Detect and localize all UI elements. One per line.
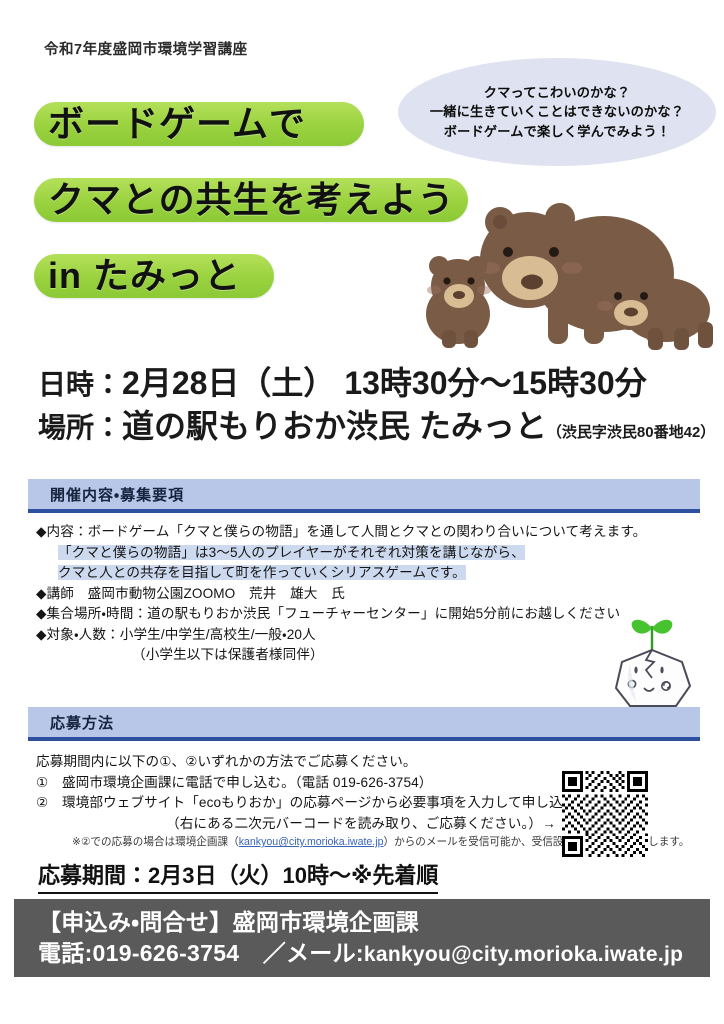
content-line: ◆内容：ボードゲーム「クマと僕らの物語」を通して人間とクマとの関わり合いについて… [36, 522, 596, 543]
bubble-line-1: クマってこわいのかな？ [430, 83, 684, 102]
apply-period: 応募期間：2月3日（火）10時〜※先着順 [38, 858, 438, 894]
apply-line: 応募期間内に以下の①、②いずれかの方法でご応募ください。 [36, 752, 596, 773]
place-address: （渋民字渋民80番地42） [547, 424, 715, 441]
content-line: ◆講師 盛岡市動物公園ZOOMO 荒井 雄大 氏 [36, 584, 596, 605]
date-value: 2月28日（土） [122, 365, 335, 401]
sprout-icon [632, 620, 673, 652]
footer-line-2: 電話:019-626-3754 ／メール:kankyou@city.moriok… [38, 938, 710, 969]
title-text-3: in たみっと [34, 255, 241, 296]
time-value: 13時30分〜15時30分 [344, 365, 646, 401]
bubble-line-2: 一緒に生きていくことはできないのかな？ [430, 102, 684, 121]
bubble-line-3: ボードゲームで楽しく学んでみよう！ [430, 122, 684, 141]
section-header-apply: 応募方法 [28, 707, 700, 741]
footer-phone: 電話:019-626-3754 ／メール: [38, 940, 364, 966]
content-line: （小学生以下は保護者様同伴） [36, 645, 596, 666]
section-header-apply-label: 応募方法 [28, 712, 114, 733]
apply-line: ② 環境部ウェブサイト「ecoもりおか」の応募ページから必要事項を入力して申し込… [36, 793, 596, 814]
place-value: 道の駅もりおか渋民 たみっと [122, 408, 547, 444]
event-details: 日時：2月28日（土） 13時30分〜15時30分 場所：道の駅もりおか渋民 た… [38, 362, 698, 448]
rock-body [616, 650, 690, 706]
apply-lines: 応募期間内に以下の①、②いずれかの方法でご応募ください。① 盛岡市環境企画課に電… [36, 752, 596, 851]
apply-note-email-link[interactable]: kankyou@city.morioka.iwate.jp [239, 836, 384, 848]
content-line: 「クマと僕らの物語」は3〜5人のプレイヤーがそれぞれ対策を講じながら、 [36, 543, 596, 564]
content-line: クマと人との共存を目指して町を作っていくシリアスゲームです。 [36, 563, 596, 584]
footer-email: kankyou@city.morioka.iwate.jp [364, 943, 683, 966]
speech-bubble: クマってこわいのかな？ 一緒に生きていくことはできないのかな？ ボードゲームで楽… [398, 58, 716, 166]
date-label: 日時： [38, 369, 122, 400]
title-text-1: ボードゲームで [34, 103, 306, 144]
kicker-text: 令和7年度盛岡市環境学習講座 [44, 38, 248, 59]
apply-note-prefix: ※②での応募の場合は環境企画課（ [72, 836, 239, 848]
event-place-line: 場所：道の駅もりおか渋民 たみっと（渋民字渋民80番地42） [38, 405, 698, 448]
qr-code[interactable] [562, 771, 648, 857]
contact-footer: 【申込み・問合せ】盛岡市環境企画課 電話:019-626-3754 ／メール:k… [14, 899, 710, 977]
right-cub [597, 264, 713, 350]
place-label: 場所： [38, 412, 122, 443]
event-datetime-line: 日時：2月28日（土） 13時30分〜15時30分 [38, 362, 698, 405]
poster-root: 令和7年度盛岡市環境学習講座 ボードゲームで クマとの共生を考えよう in たみ… [0, 0, 724, 1024]
highlighted-text: クマと人との共存を目指して町を作っていくシリアスゲームです。 [58, 565, 466, 580]
apply-line: ① 盛岡市環境企画課に電話で申し込む。（電話 019-626-3754） [36, 773, 596, 794]
left-cub [426, 256, 491, 348]
section-header-content-label: 開催内容・募集要項 [28, 484, 184, 505]
apply-line: （右にある二次元バーコードを読み取り、ご応募ください。）→ [36, 814, 596, 835]
highlighted-text: 「クマと僕らの物語」は3〜5人のプレイヤーがそれぞれ対策を講じながら、 [58, 545, 525, 560]
content-lines: ◆内容：ボードゲーム「クマと僕らの物語」を通して人間とクマとの関わり合いについて… [36, 522, 596, 666]
title-text-2: クマとの共生を考えよう [34, 179, 455, 220]
content-line: ◆集合場所・時間：道の駅もりおか渋民「フューチャーセンター」に開始5分前にお越し… [36, 604, 596, 625]
content-line: ◆対象・人数：小学生/中学生/高校生/一般・20人 [36, 625, 596, 646]
footer-line-1: 【申込み・問合せ】盛岡市環境企画課 [38, 907, 710, 938]
apply-note: ※②での応募の場合は環境企画課（kankyou@city.morioka.iwa… [36, 834, 596, 851]
section-header-content: 開催内容・募集要項 [28, 479, 700, 513]
